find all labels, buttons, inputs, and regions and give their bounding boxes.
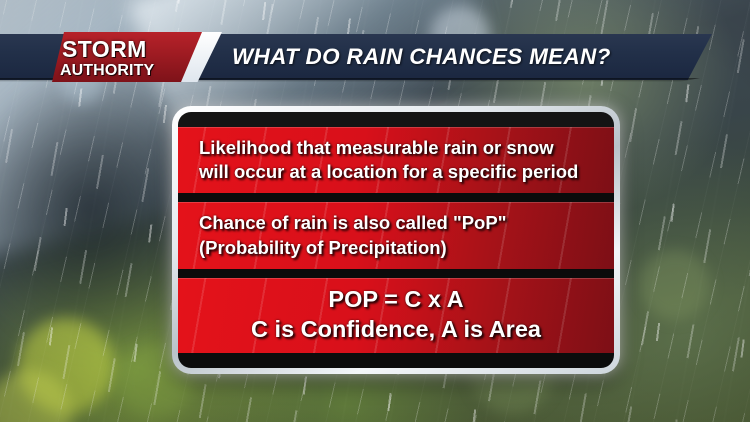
weather-graphic: STORM AUTHORITY WHAT DO RAIN CHANCES MEA…	[0, 0, 750, 422]
info-block-pop-name: Chance of rain is also called "PoP" (Pro…	[178, 202, 614, 268]
page-title: WHAT DO RAIN CHANCES MEAN?	[232, 34, 611, 80]
info-block-pop-formula: POP = C x A C is Confidence, A is Area	[178, 278, 614, 353]
header-band: STORM AUTHORITY WHAT DO RAIN CHANCES MEA…	[0, 34, 712, 80]
storm-authority-logo: STORM AUTHORITY	[60, 36, 200, 80]
formula-line: C is Confidence, A is Area	[178, 314, 614, 345]
info-line: will occur at a location for a specific …	[178, 160, 614, 184]
info-line: Chance of rain is also called "PoP"	[178, 211, 614, 235]
info-line: Likelihood that measurable rain or snow	[178, 136, 614, 160]
info-block-definition: Likelihood that measurable rain or snow …	[178, 127, 614, 193]
info-line: (Probability of Precipitation)	[178, 236, 614, 260]
block-separator	[178, 269, 614, 278]
logo-line-storm: STORM	[60, 38, 200, 61]
formula-line: POP = C x A	[178, 284, 614, 315]
logo-line-authority: AUTHORITY	[60, 63, 200, 79]
block-separator	[178, 193, 614, 202]
content-panel: Likelihood that measurable rain or snow …	[178, 112, 614, 368]
